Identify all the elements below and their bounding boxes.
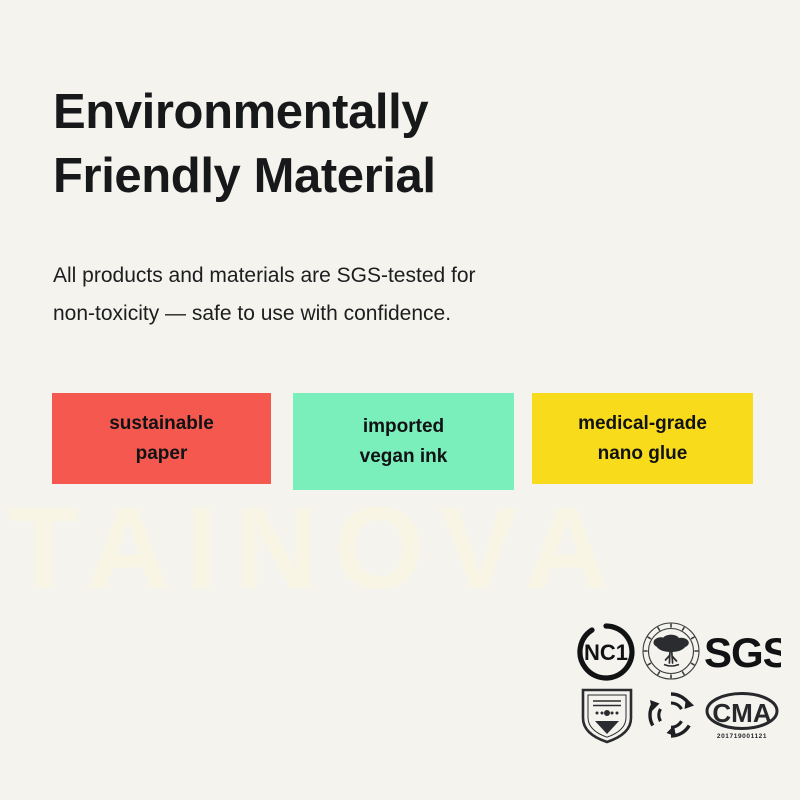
chip-label-line-1: sustainable [109, 409, 214, 439]
recycling-icon [640, 684, 702, 746]
page-title-line-2: Friendly Material [53, 144, 693, 208]
brand-watermark: TAINOVA [8, 488, 798, 608]
material-chip-medical-grade-nano-glue: medical-grade nano glue [532, 393, 753, 484]
page-subtitle-line-2: non-toxicity — safe to use with confiden… [53, 295, 673, 333]
material-chip-imported-vegan-ink: imported vegan ink [293, 393, 514, 490]
sgs-logo-icon: SGS [703, 626, 781, 678]
cma-certificate-number: 201719001121 [717, 733, 767, 740]
page-subtitle: All products and materials are SGS-teste… [53, 257, 673, 333]
material-chip-group: sustainable paper imported vegan ink med… [52, 393, 757, 493]
chip-label-line-2: paper [136, 439, 188, 469]
cma-label: CMA [712, 698, 771, 728]
sgs-label: SGS [704, 629, 781, 676]
page-subtitle-line-1: All products and materials are SGS-teste… [53, 257, 673, 295]
certification-badge-group: NC1 [575, 620, 780, 748]
material-chip-sustainable-paper: sustainable paper [52, 393, 271, 484]
poster-canvas: TAINOVA Environmentally Friendly Materia… [0, 0, 800, 800]
page-title-line-1: Environmentally [53, 80, 693, 144]
nc1-label: NC1 [584, 640, 628, 665]
nc1-certification-icon: NC1 [575, 622, 637, 682]
chip-label-line-1: imported [363, 412, 444, 442]
shield-certification-icon [577, 684, 637, 746]
page-title: Environmentally Friendly Material [53, 80, 693, 208]
chip-label-line-1: medical-grade [578, 409, 707, 439]
chip-label-line-2: vegan ink [360, 442, 448, 472]
tree-seal-icon [640, 620, 702, 682]
chip-label-line-2: nano glue [598, 439, 688, 469]
cma-certification-icon: CMA 201719001121 [703, 684, 781, 746]
